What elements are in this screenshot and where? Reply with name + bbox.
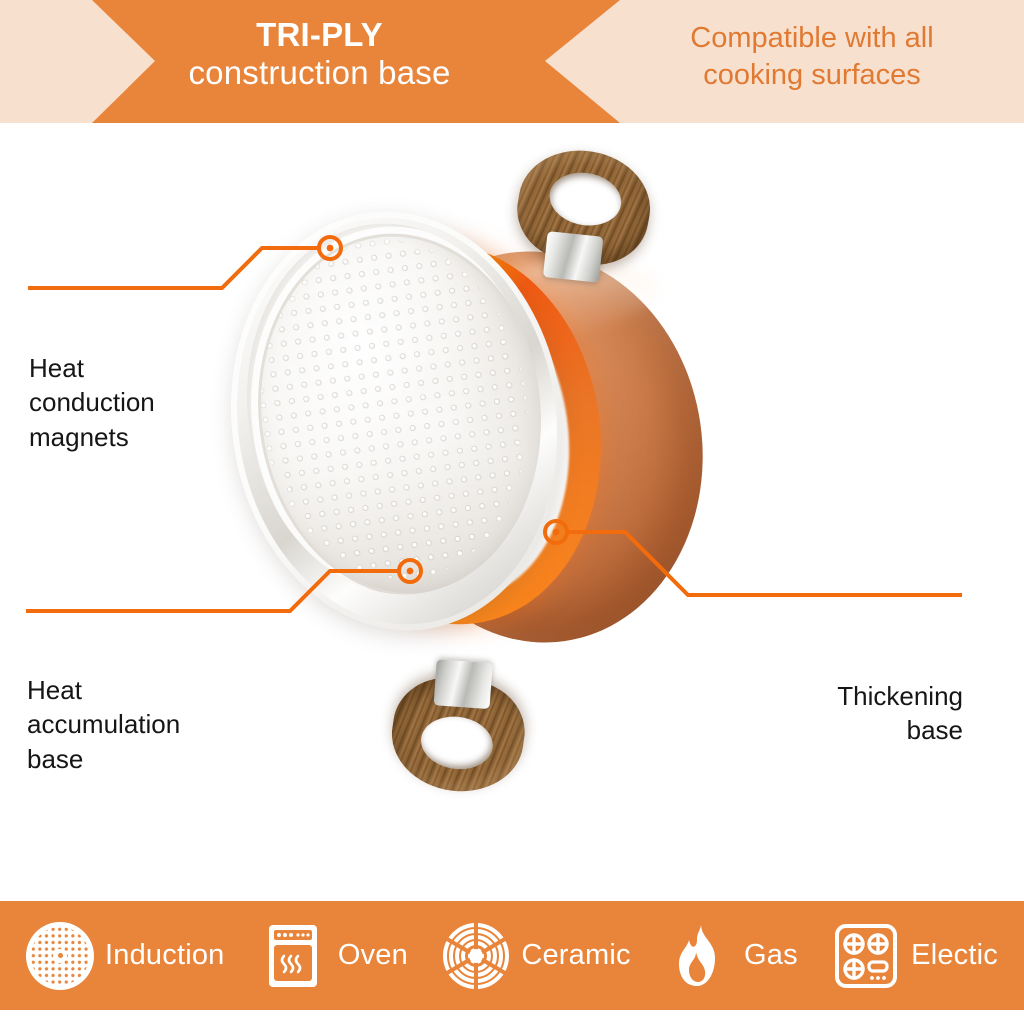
header-subtitle-line2: cooking surfaces (600, 57, 1024, 94)
product-illustration: Heat conduction magnets Heat accumulatio… (0, 123, 1024, 893)
callout-line-3: magnets (29, 420, 155, 454)
footer-item-oven[interactable]: Oven (259, 922, 408, 990)
pot-handle-bottom (385, 670, 531, 799)
compatibility-footer-bar: Induction Oven (0, 901, 1024, 1010)
callout-line-2: accumulation (27, 707, 180, 741)
ceramic-icon (442, 922, 510, 990)
header-title-line2: construction base (92, 54, 547, 92)
header-left-title: TRI-PLY construction base (92, 16, 547, 93)
handle-chrome-ferrule (543, 231, 604, 283)
infographic-canvas: TRI-PLY construction base Compatible wit… (0, 0, 1024, 1024)
induction-icon (26, 922, 94, 990)
callout-line-2: conduction (29, 385, 155, 419)
footer-item-gas[interactable]: Gas (665, 922, 798, 990)
footer-item-electric[interactable]: Electic (832, 922, 998, 990)
handle-chrome-ferrule (434, 659, 493, 709)
footer-item-ceramic[interactable]: Ceramic (442, 922, 630, 990)
footer-label-electric: Electic (911, 939, 998, 972)
electric-icon (832, 922, 900, 990)
footer-label-induction: Induction (105, 939, 225, 972)
footer-label-ceramic: Ceramic (521, 939, 630, 972)
gas-icon (665, 922, 733, 990)
header-title-line1: TRI-PLY (92, 16, 547, 54)
oven-icon (259, 922, 327, 990)
callout-heat-conduction-magnets: Heat conduction magnets (29, 351, 155, 454)
header-subtitle-line1: Compatible with all (600, 20, 1024, 57)
footer-label-gas: Gas (744, 939, 798, 972)
footer-label-oven: Oven (338, 939, 408, 972)
callout-line-1: Heat (27, 673, 180, 707)
header-banner: TRI-PLY construction base Compatible wit… (0, 0, 1024, 123)
callout-thickening-base: Thickening base (738, 679, 963, 748)
callout-line-3: base (27, 742, 180, 776)
callout-line-1: Heat (29, 351, 155, 385)
callout-line-1: Thickening (738, 679, 963, 713)
pot-handle-top (509, 140, 658, 273)
callout-line-2: base (738, 713, 963, 747)
header-right-subtitle: Compatible with all cooking surfaces (600, 20, 1024, 93)
footer-item-induction[interactable]: Induction (26, 922, 225, 990)
callout-heat-accumulation-base: Heat accumulation base (27, 673, 180, 776)
